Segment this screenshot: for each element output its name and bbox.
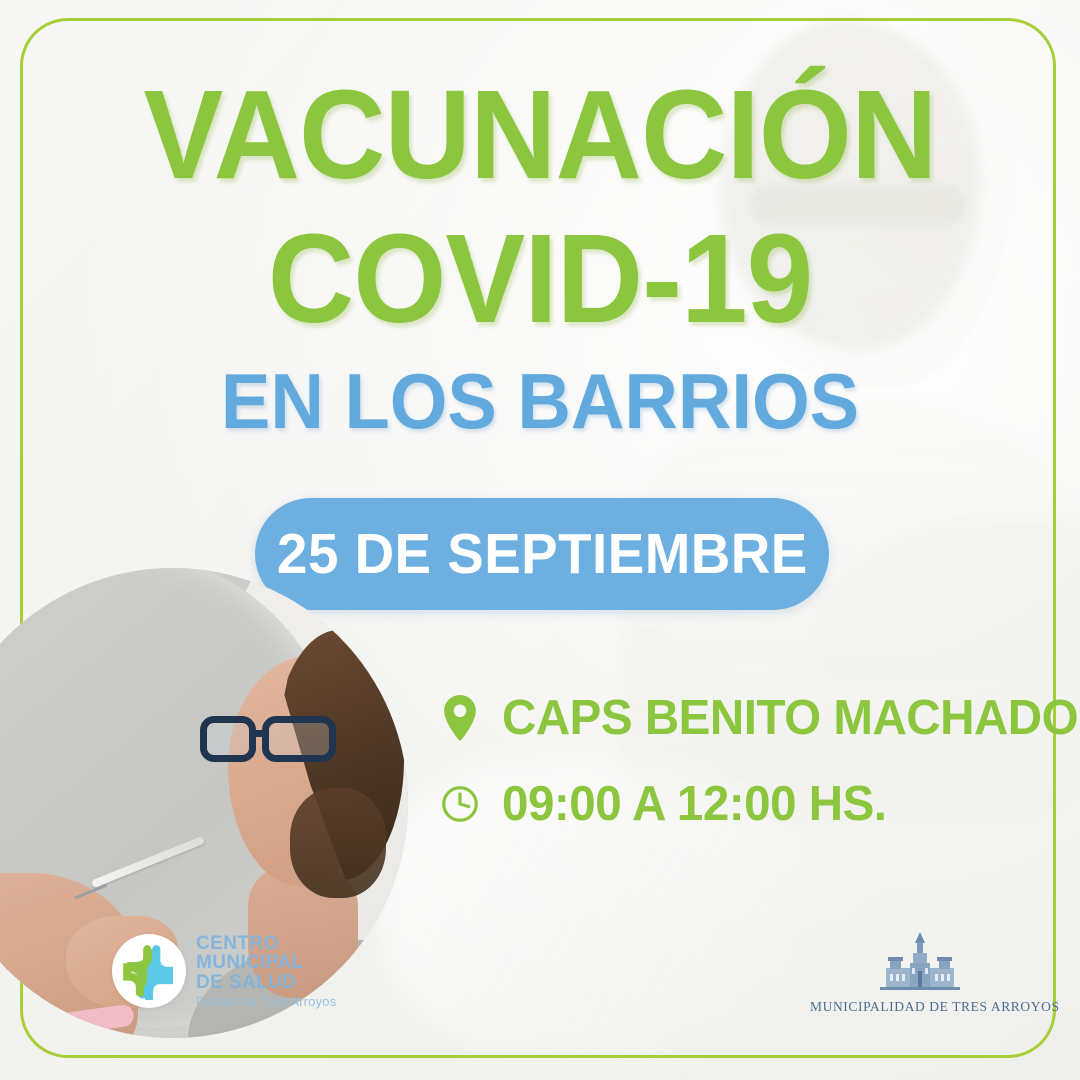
- detail-location-text: CAPS BENITO MACHADO: [502, 690, 1078, 746]
- health-center-line-2: MUNICIPAL: [196, 953, 336, 972]
- health-center-line-3: DE SALUD: [196, 973, 336, 992]
- municipal-building-icon: [862, 979, 978, 996]
- detail-row-time: 09:00 A 12:00 HS.: [440, 776, 1060, 832]
- detail-row-location: CAPS BENITO MACHADO: [440, 690, 1060, 746]
- photo-hair-back: [290, 788, 386, 898]
- poster-canvas: VACUNACIÓN COVID-19 EN LOS BARRIOS 25 DE…: [0, 0, 1080, 1080]
- photo-glasses-right-lens: [262, 716, 336, 762]
- municipality-caption: MUNICIPALIDAD DE TRES ARROYOS: [810, 999, 1030, 1015]
- headline-block: VACUNACIÓN COVID-19 EN LOS BARRIOS: [0, 74, 1080, 440]
- municipality-logo: MUNICIPALIDAD DE TRES ARROYOS: [810, 930, 1030, 1015]
- subtitle-en-los-barrios: EN LOS BARRIOS: [27, 362, 1053, 440]
- event-details: CAPS BENITO MACHADO 09:00 A 12:00 HS.: [440, 690, 1060, 862]
- health-center-logo-text: CENTRO MUNICIPAL DE SALUD Partido de Tre…: [196, 934, 336, 1008]
- location-pin-icon: [440, 694, 480, 742]
- detail-time-text: 09:00 A 12:00 HS.: [502, 776, 887, 832]
- health-cross-icon: [112, 934, 186, 1008]
- title-line-vacunacion: VACUNACIÓN: [27, 74, 1053, 196]
- photo-glasses-left-lens: [200, 716, 256, 762]
- clock-icon: [440, 780, 480, 828]
- health-center-line-1: CENTRO: [196, 934, 336, 953]
- health-center-tagline: Partido de Tres Arroyos: [196, 995, 336, 1008]
- title-line-covid19: COVID-19: [27, 218, 1053, 340]
- health-center-logo: CENTRO MUNICIPAL DE SALUD Partido de Tre…: [112, 934, 336, 1008]
- photo-glasses: [200, 716, 336, 762]
